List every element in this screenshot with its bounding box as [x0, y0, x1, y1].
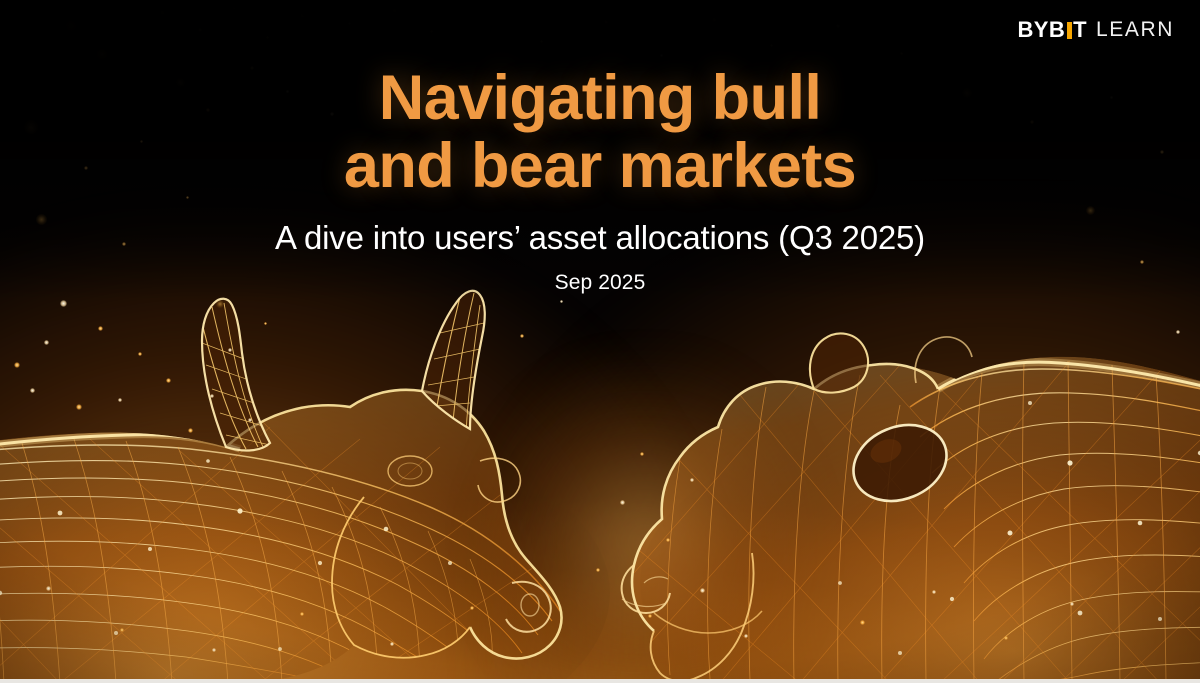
bybit-wordmark-part2: T — [1073, 17, 1087, 43]
bybit-accent-bar-icon — [1067, 22, 1072, 39]
bybit-wordmark: BYBT — [1017, 17, 1087, 43]
page-date: Sep 2025 — [0, 271, 1200, 295]
bybit-wordmark-part1: BYB — [1017, 17, 1065, 43]
learn-wordmark: LEARN — [1096, 18, 1174, 42]
page-subtitle: A dive into users’ asset allocations (Q3… — [0, 219, 1200, 257]
page-title: Navigating bull and bear markets — [0, 64, 1200, 200]
page-title-line-1: Navigating bull — [0, 64, 1200, 132]
title-slide: BYBT LEARN Navigating bull and bear mark… — [0, 0, 1200, 683]
title-block: Navigating bull and bear markets A dive … — [0, 0, 1200, 295]
bybit-learn-logo[interactable]: BYBT LEARN — [1017, 17, 1174, 43]
bottom-edge-strip — [0, 679, 1200, 683]
page-title-line-2: and bear markets — [0, 132, 1200, 200]
